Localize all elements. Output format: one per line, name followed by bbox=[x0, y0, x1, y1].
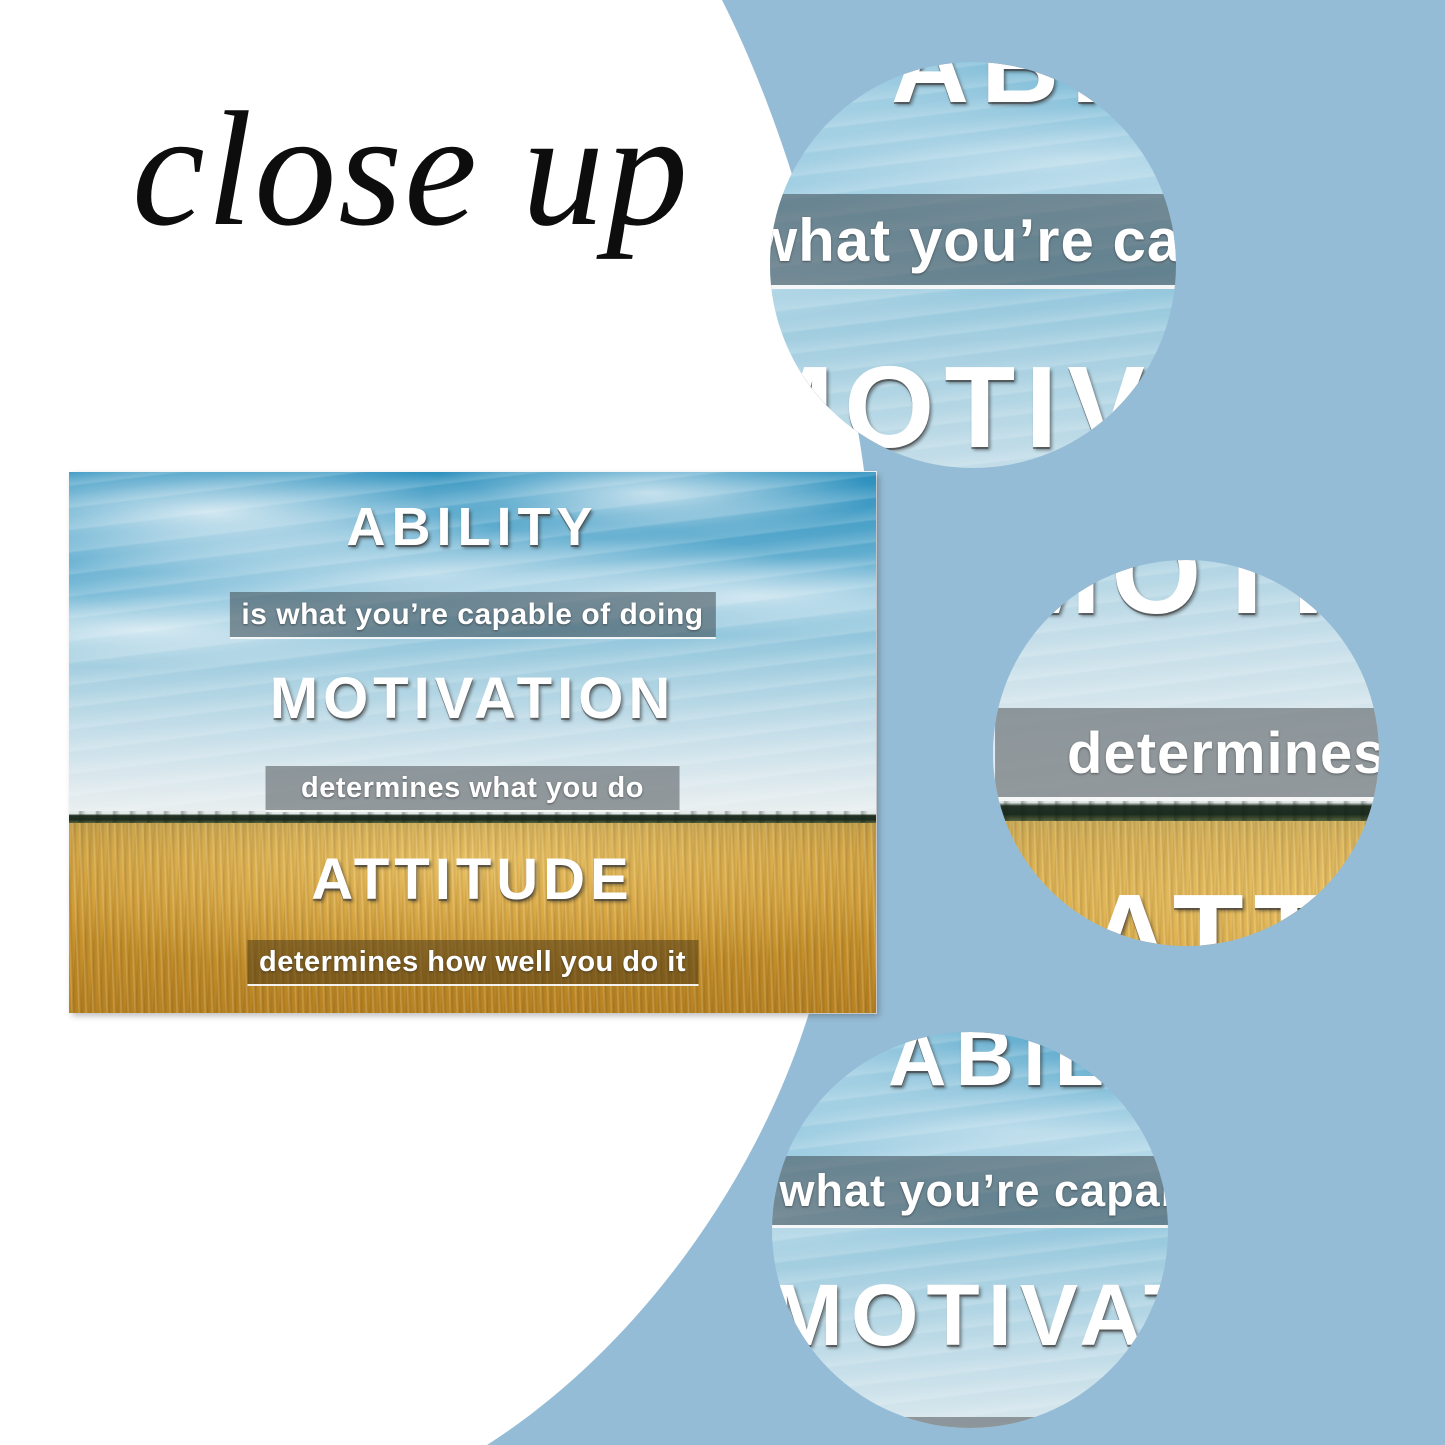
poster-line-attitude: ATTITUDE bbox=[993, 868, 1379, 946]
poster-line-motivation-sub: determines what you do bbox=[265, 766, 680, 812]
poster-line-ability: ABILITY bbox=[772, 1032, 1168, 1105]
poster-line-ability-sub: is what you’re capable of doing bbox=[229, 592, 715, 639]
zoom-bottom-text-plate: ABILITY is what you’re capable of doing … bbox=[772, 1032, 1168, 1428]
poster-text-plate: ABILITY is what you’re capable of doing … bbox=[69, 472, 876, 1013]
poster-line-ability-sub: is what you’re capable of doing bbox=[772, 1156, 1168, 1228]
poster-line-motivation: MOTIVATION bbox=[772, 1266, 1168, 1366]
poster-line-ability: ABILITY bbox=[770, 62, 1176, 127]
poster-line-attitude: ATTITUDE bbox=[69, 846, 876, 913]
poster-line-motivation-sub: determines what you do bbox=[772, 1417, 1168, 1428]
poster-line-ability-sub: is what you’re capable of doing bbox=[770, 194, 1176, 289]
close-up-detail-bottom: ABILITY is what you’re capable of doing … bbox=[772, 1032, 1168, 1428]
poster-line-motivation: MOTIVATION bbox=[770, 340, 1176, 468]
poster-line-motivation: MOTIVATION bbox=[993, 560, 1379, 640]
zoom-top-text-plate: ABILITY is what you’re capable of doing … bbox=[770, 62, 1176, 468]
close-up-detail-top: ABILITY is what you’re capable of doing … bbox=[770, 62, 1176, 468]
poster-line-attitude-sub: determines how well you do it bbox=[247, 940, 698, 986]
poster-line-motivation-sub: determines what you do bbox=[995, 708, 1379, 801]
main-product-poster[interactable]: ABILITY is what you’re capable of doing … bbox=[69, 472, 876, 1013]
close-up-detail-middle: ABILITY is what you’re capable of doing … bbox=[993, 560, 1379, 946]
page-title: close up bbox=[132, 88, 690, 252]
poster-line-motivation: MOTIVATION bbox=[69, 665, 876, 732]
product-image-canvas: close up ABILITY is what you’re capable … bbox=[0, 0, 1445, 1445]
zoom-mid-text-plate: ABILITY is what you’re capable of doing … bbox=[993, 560, 1379, 946]
poster-line-ability: ABILITY bbox=[69, 496, 876, 558]
